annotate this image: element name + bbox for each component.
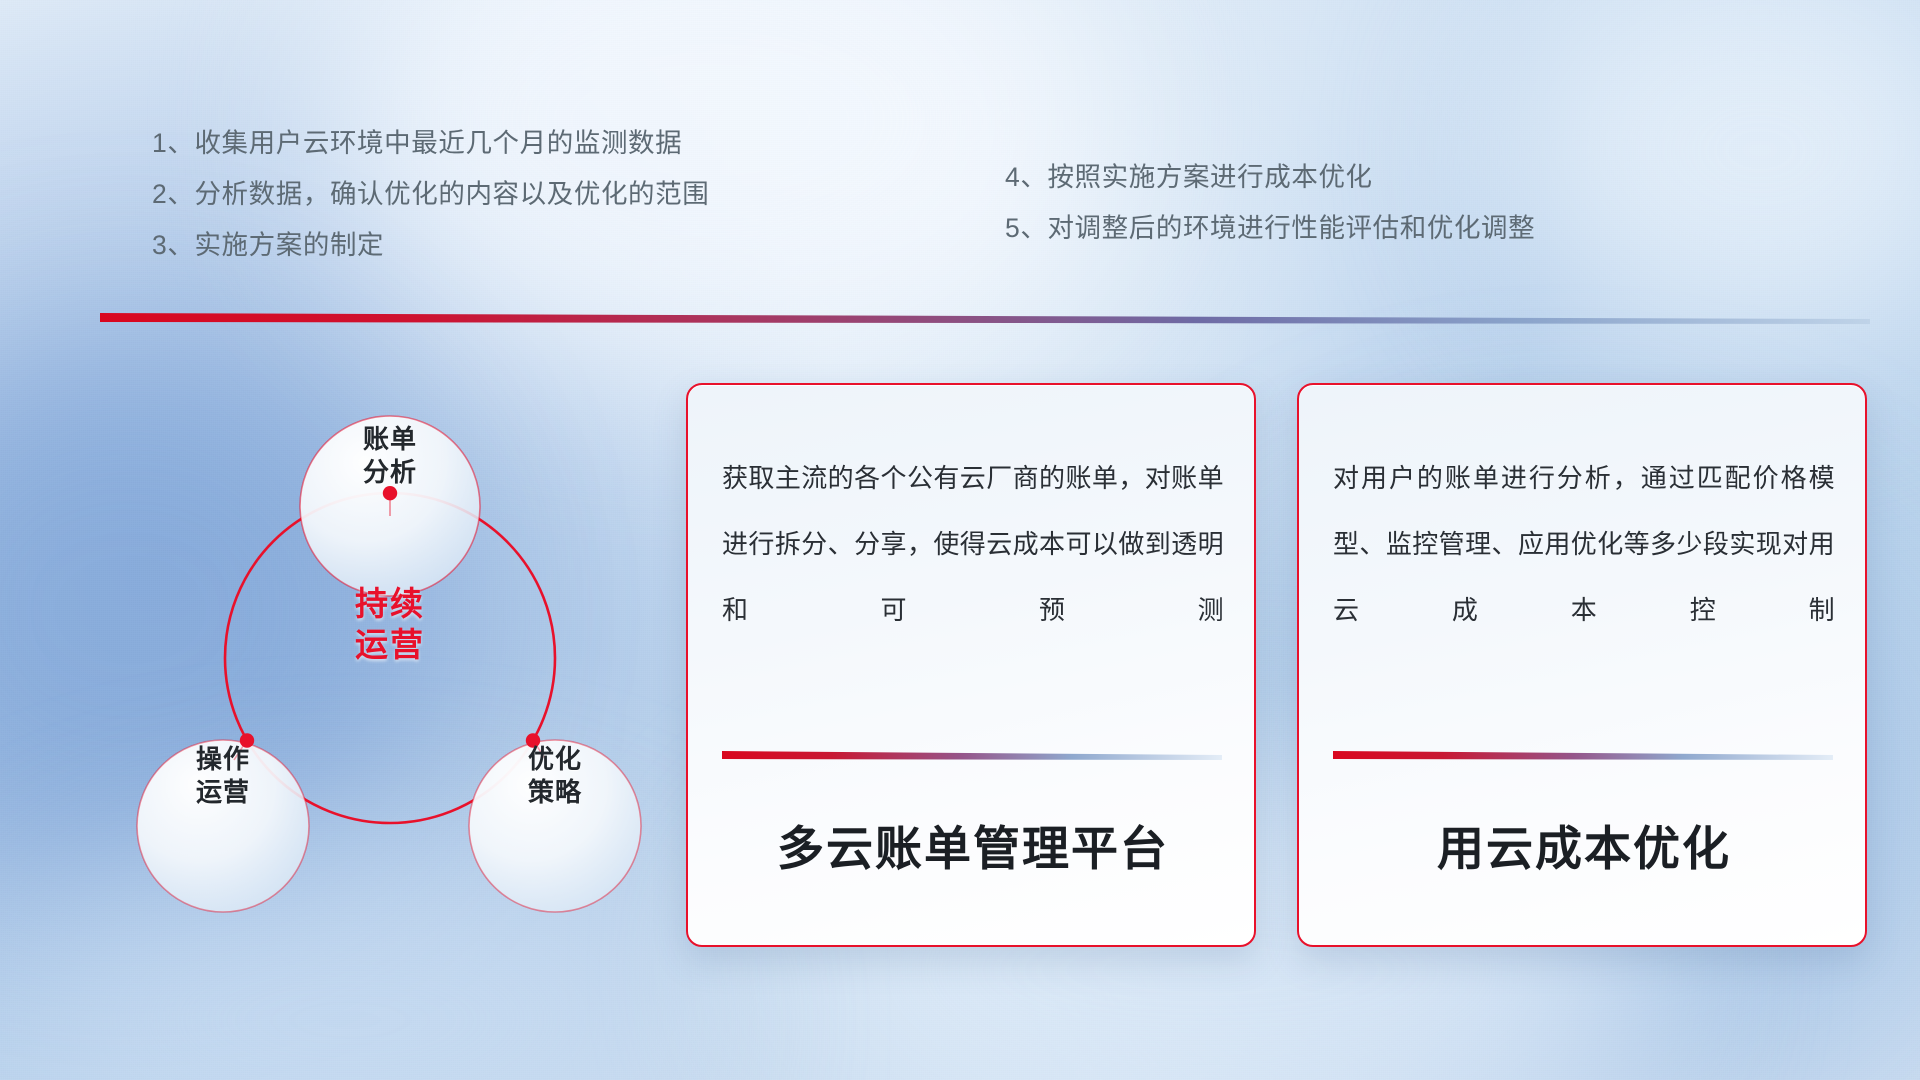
info-card-cloud-cost-optimization[interactable]: 对用户的账单进行分析，通过匹配价格模型、监控管理、应用优化等多少段实现对用云成本… — [1297, 383, 1867, 947]
node-label-optimization-strategy: 优化 策略 — [470, 743, 640, 809]
card-divider — [1333, 751, 1833, 760]
info-card-multi-cloud-billing-platform[interactable]: 获取主流的各个公有云厂商的账单，对账单进行拆分、分享，使得云成本可以做到透明和可… — [686, 383, 1256, 947]
process-step: 2、分析数据，确认优化的内容以及优化的范围 — [152, 169, 912, 220]
section-divider-rule — [100, 313, 1870, 324]
process-step: 4、按照实施方案进行成本优化 — [1005, 152, 1785, 203]
process-step: 5、对调整后的环境进行性能评估和优化调整 — [1005, 203, 1785, 254]
card-title: 用云成本优化 — [1333, 810, 1835, 879]
card-divider — [722, 751, 1222, 760]
process-step: 3、实施方案的制定 — [152, 220, 912, 271]
card-body-text: 获取主流的各个公有云厂商的账单，对账单进行拆分、分享，使得云成本可以做到透明和可… — [722, 445, 1224, 643]
process-steps-right: 4、按照实施方案进行成本优化 5、对调整后的环境进行性能评估和优化调整 — [1005, 152, 1785, 254]
card-title: 多云账单管理平台 — [722, 810, 1224, 879]
node-label-billing-analysis: 账单 分析 — [305, 423, 475, 489]
slide-canvas: 1、收集用户云环境中最近几个月的监测数据 2、分析数据，确认优化的内容以及优化的… — [0, 0, 1920, 1080]
process-step: 1、收集用户云环境中最近几个月的监测数据 — [152, 118, 912, 169]
continuous-operations-diagram: 账单 分析 操作 运营 优化 策略 持续 运营 — [95, 348, 655, 948]
process-steps-left: 1、收集用户云环境中最近几个月的监测数据 2、分析数据，确认优化的内容以及优化的… — [152, 118, 912, 271]
diagram-center-label: 持续 运营 — [305, 583, 475, 665]
card-body-text: 对用户的账单进行分析，通过匹配价格模型、监控管理、应用优化等多少段实现对用云成本… — [1333, 445, 1835, 643]
node-label-operations: 操作 运营 — [138, 743, 308, 809]
